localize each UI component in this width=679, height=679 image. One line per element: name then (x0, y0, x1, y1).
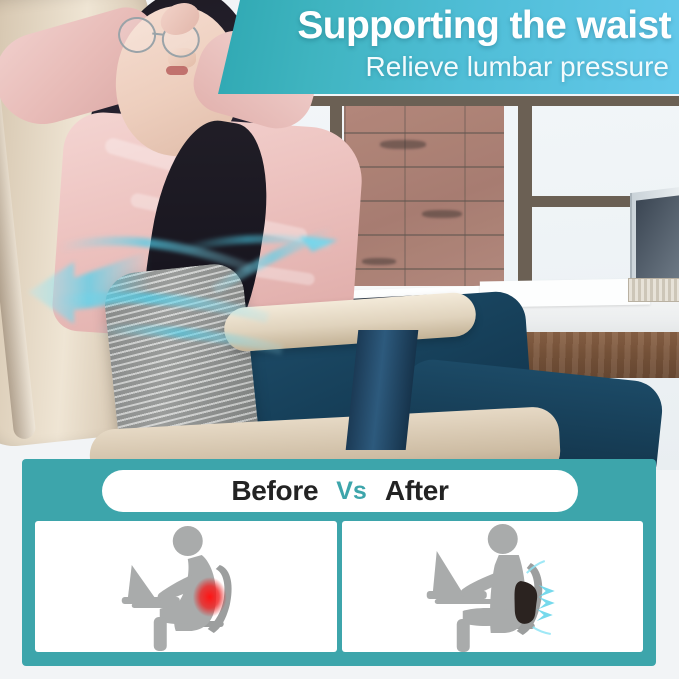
window-mullion-top (300, 96, 679, 106)
laptop-screen (636, 195, 679, 288)
vs-label: Vs (336, 477, 367, 506)
after-pictogram (342, 521, 644, 652)
chair-arm-post (346, 330, 419, 450)
product-marketing-image: Supporting the waist Relieve lumbar pres… (0, 0, 679, 679)
before-pictogram (35, 521, 337, 652)
after-label: After (385, 475, 449, 507)
before-label: Before (231, 475, 318, 507)
before-after-panel: Before Vs After (22, 459, 656, 666)
before-vs-after-pill: Before Vs After (102, 470, 578, 512)
banner-subtitle: Relieve lumbar pressure (217, 50, 669, 84)
woman-lips (166, 66, 188, 75)
after-pane (342, 521, 644, 652)
before-pane (35, 521, 337, 652)
notebook (628, 278, 679, 302)
comparison-panes (35, 521, 643, 652)
banner-title: Supporting the waist (219, 4, 671, 48)
